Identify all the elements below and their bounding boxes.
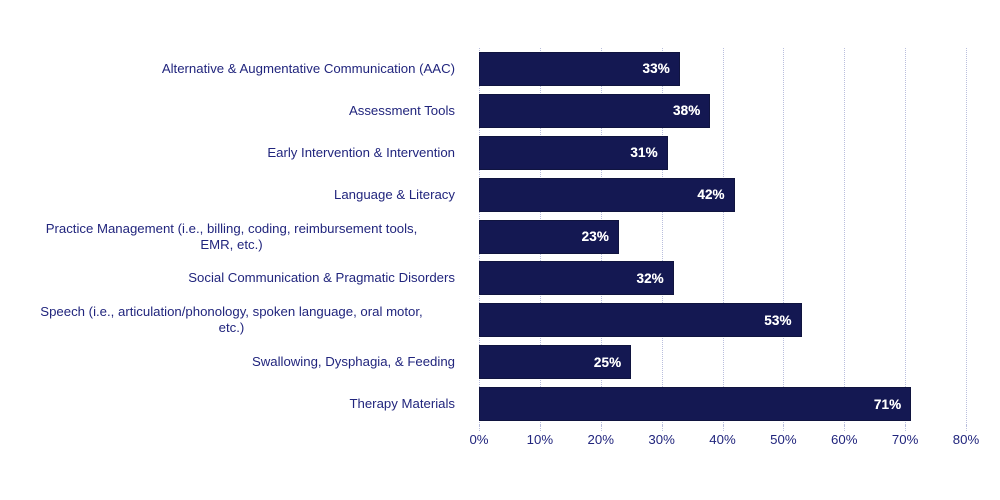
tickmark-10pct xyxy=(540,425,541,431)
bar-chart: Alternative & Augmentative Communication… xyxy=(0,0,1000,500)
bar-row[interactable]: 33% xyxy=(479,52,680,86)
bar[interactable]: 42% xyxy=(479,178,735,212)
x-tick-label: 10% xyxy=(527,432,553,447)
category-label: Language & Literacy xyxy=(0,187,467,203)
category-label: Early Intervention & Intervention xyxy=(0,145,467,161)
x-axis-tickmarks xyxy=(479,425,966,432)
x-tick-label: 80% xyxy=(953,432,979,447)
bar-row[interactable]: 31% xyxy=(479,136,668,170)
tickmark-50pct xyxy=(783,425,784,431)
bar[interactable]: 53% xyxy=(479,303,802,337)
x-tick-label: 50% xyxy=(770,432,796,447)
x-tick-label: 0% xyxy=(469,432,488,447)
x-tick-label: 30% xyxy=(648,432,674,447)
tickmark-0pct xyxy=(479,425,480,431)
bar[interactable]: 23% xyxy=(479,220,619,254)
bar-row[interactable]: 53% xyxy=(479,303,802,337)
tickmark-70pct xyxy=(905,425,906,431)
bar[interactable]: 33% xyxy=(479,52,680,86)
bar-value-label: 33% xyxy=(643,61,679,76)
bar-value-label: 38% xyxy=(673,103,709,118)
x-tick-label: 60% xyxy=(831,432,857,447)
bar-row[interactable]: 32% xyxy=(479,261,674,295)
category-label: Speech (i.e., articulation/phonology, sp… xyxy=(0,304,467,336)
x-axis-labels: 0%10%20%30%40%50%60%70%80% xyxy=(479,432,966,452)
category-label: Social Communication & Pragmatic Disorde… xyxy=(0,270,467,286)
bar-value-label: 32% xyxy=(636,271,672,286)
x-tick-label: 20% xyxy=(588,432,614,447)
tickmark-80pct xyxy=(966,425,967,431)
gridline-80pct xyxy=(966,48,967,425)
bar[interactable]: 71% xyxy=(479,387,911,421)
category-label: Therapy Materials xyxy=(0,396,467,412)
bar-value-label: 25% xyxy=(594,355,630,370)
category-axis-labels: Alternative & Augmentative Communication… xyxy=(0,48,467,425)
bar-value-label: 71% xyxy=(874,397,910,412)
tickmark-60pct xyxy=(844,425,845,431)
bar-value-label: 31% xyxy=(630,145,666,160)
bar-value-label: 42% xyxy=(697,187,733,202)
bar-row[interactable]: 23% xyxy=(479,220,619,254)
bar-series: 33%38%31%42%23%32%53%25%71% xyxy=(479,48,966,425)
x-tick-label: 40% xyxy=(709,432,735,447)
tickmark-40pct xyxy=(723,425,724,431)
bar-value-label: 53% xyxy=(764,313,800,328)
tickmark-20pct xyxy=(601,425,602,431)
bar[interactable]: 38% xyxy=(479,94,710,128)
category-label: Swallowing, Dysphagia, & Feeding xyxy=(0,354,467,370)
bar-row[interactable]: 38% xyxy=(479,94,710,128)
bar-value-label: 23% xyxy=(582,229,618,244)
bar-row[interactable]: 25% xyxy=(479,345,631,379)
bar[interactable]: 31% xyxy=(479,136,668,170)
x-tick-label: 70% xyxy=(892,432,918,447)
bar[interactable]: 25% xyxy=(479,345,631,379)
plot-area: 33%38%31%42%23%32%53%25%71% xyxy=(479,48,966,425)
tickmark-30pct xyxy=(662,425,663,431)
category-label: Assessment Tools xyxy=(0,103,467,119)
bar[interactable]: 32% xyxy=(479,261,674,295)
category-label: Alternative & Augmentative Communication… xyxy=(0,61,467,77)
bar-row[interactable]: 71% xyxy=(479,387,911,421)
bar-row[interactable]: 42% xyxy=(479,178,735,212)
category-label: Practice Management (i.e., billing, codi… xyxy=(0,221,467,253)
